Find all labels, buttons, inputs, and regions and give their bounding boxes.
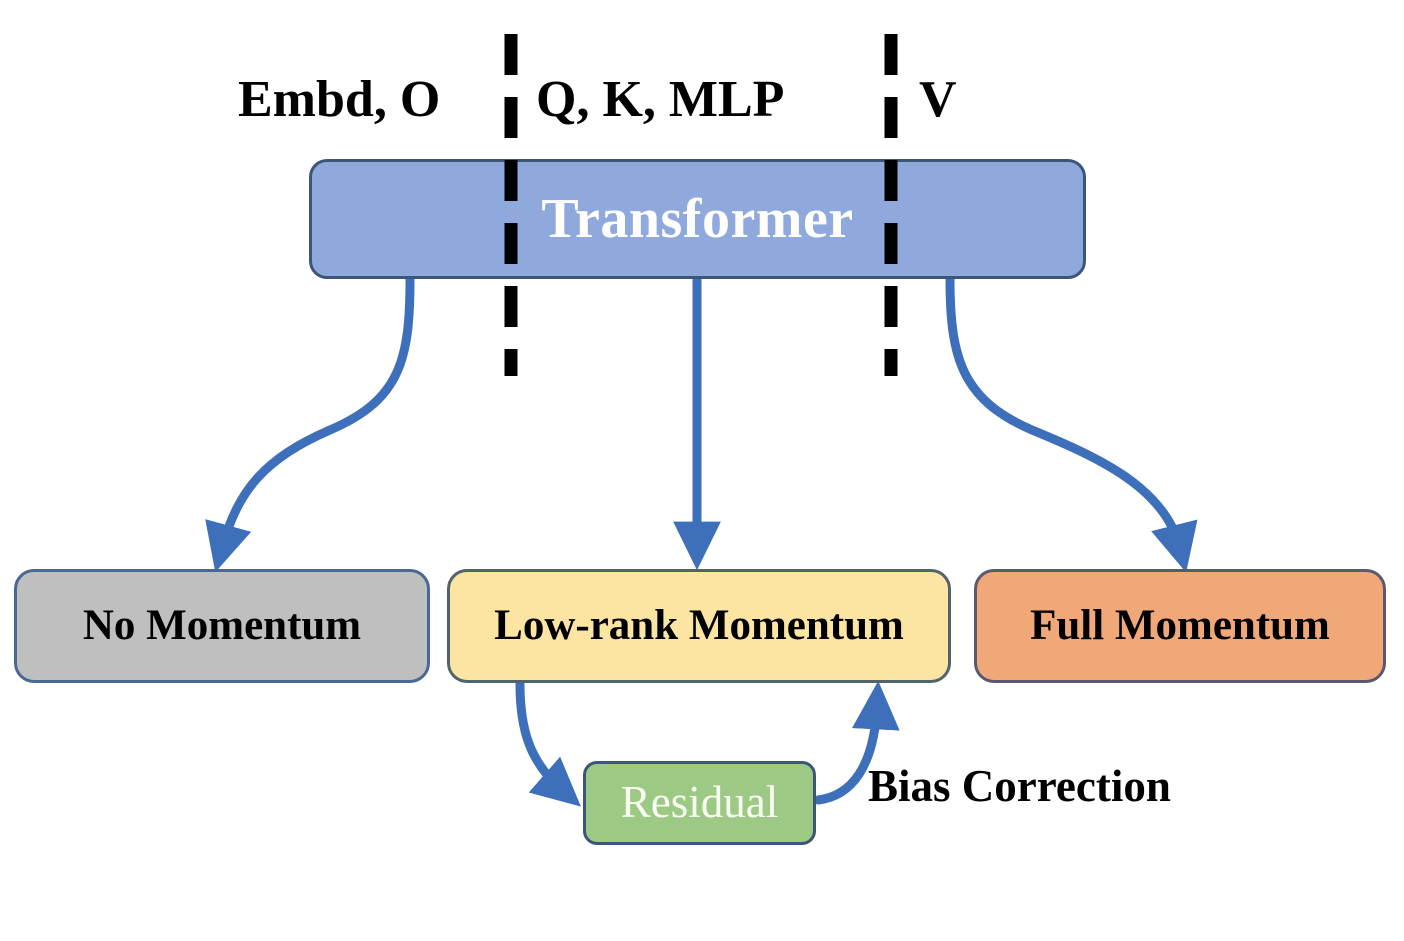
divider-layer: [0, 0, 1404, 941]
diagram-canvas: Transformer No Momentum Low-rank Momentu…: [0, 0, 1404, 941]
